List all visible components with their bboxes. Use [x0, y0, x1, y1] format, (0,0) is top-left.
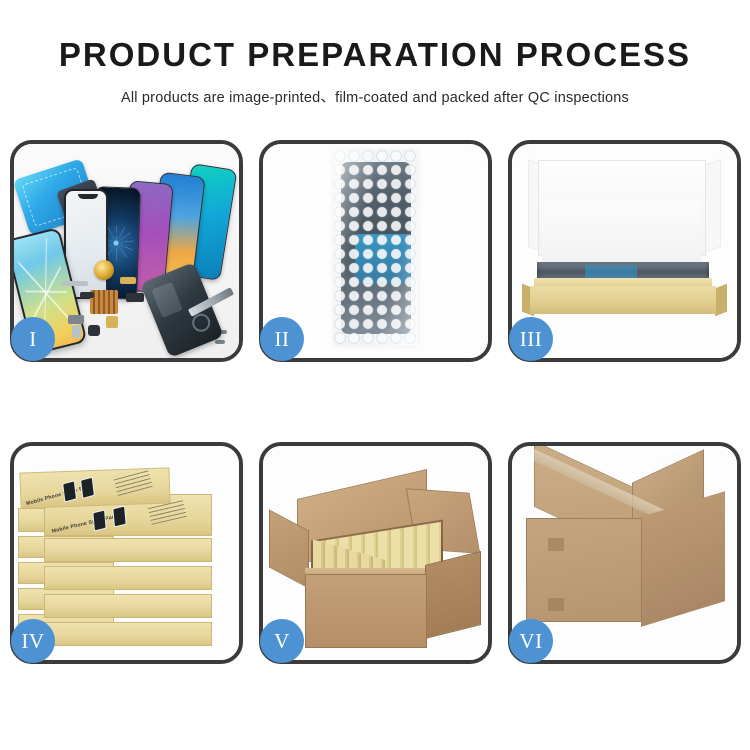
carton-front-face: [526, 518, 642, 622]
page-subtitle: All products are image-printed、film-coat…: [0, 86, 750, 107]
header: PRODUCT PREPARATION PROCESS All products…: [0, 0, 750, 107]
camera-module-part: [126, 293, 144, 302]
bubble-wrap-bag: [334, 150, 418, 346]
box-artwork-screen-r2: [112, 505, 126, 527]
step-badge-1: I: [11, 317, 55, 361]
screw-set-part: [215, 340, 225, 344]
kraft-box-right-4: [44, 538, 212, 562]
box-artwork-screen-r1: [92, 509, 106, 531]
sim-tray-part: [72, 325, 81, 338]
step-badge-3: III: [509, 317, 553, 361]
gold-coil-part: [94, 260, 114, 280]
step-panel-5: V: [259, 442, 492, 664]
button-part: [88, 325, 100, 336]
kraft-box-right-1: [44, 622, 212, 646]
plastic-sheen: [334, 150, 418, 346]
step-panel-3: III: [508, 140, 741, 362]
step-badge-4: IV: [11, 619, 55, 663]
flex-cable-part: [62, 281, 88, 286]
small-connector-part: [80, 292, 94, 298]
step-panel-4: Mobile Phone Spare Parts Mobile Phone Sp…: [10, 442, 243, 664]
product-preparation-infographic: PRODUCT PREPARATION PROCESS All products…: [0, 0, 750, 750]
carton-seam-tab-upper: [548, 538, 564, 551]
step-panel-1: I: [10, 140, 243, 362]
step-panel-6: VI: [508, 442, 741, 664]
carton-right-face: [425, 551, 481, 639]
chip-grid-part: [90, 290, 118, 314]
white-foam-lining: [542, 202, 702, 268]
steps-grid: I II: [10, 140, 740, 686]
box-front-right-corner: [715, 284, 727, 317]
step-badge-2: II: [260, 317, 304, 361]
step-panel-2: II: [259, 140, 492, 362]
carton-front-face: [305, 574, 427, 648]
box-artwork-text-lines-l: [113, 467, 153, 496]
kraft-box-top-printed-left: Mobile Phone Spare Parts: [19, 467, 170, 508]
box-artwork-screen-l1: [62, 480, 77, 502]
gold-connector-part: [120, 277, 136, 284]
step-badge-5: V: [260, 619, 304, 663]
carton-seam-tab-lower: [548, 598, 564, 611]
step-badge-6: VI: [509, 619, 553, 663]
speaker-part: [68, 315, 84, 324]
box-artwork-screen-l2: [80, 477, 95, 499]
kraft-box-right-3: [44, 566, 212, 590]
antenna-part: [106, 316, 118, 328]
kraft-box-label-right: Mobile Phone Spare Parts: [51, 513, 119, 534]
kraft-box-right-2: [44, 594, 212, 618]
page-title: PRODUCT PREPARATION PROCESS: [0, 36, 750, 74]
box-front-face: [530, 286, 716, 314]
